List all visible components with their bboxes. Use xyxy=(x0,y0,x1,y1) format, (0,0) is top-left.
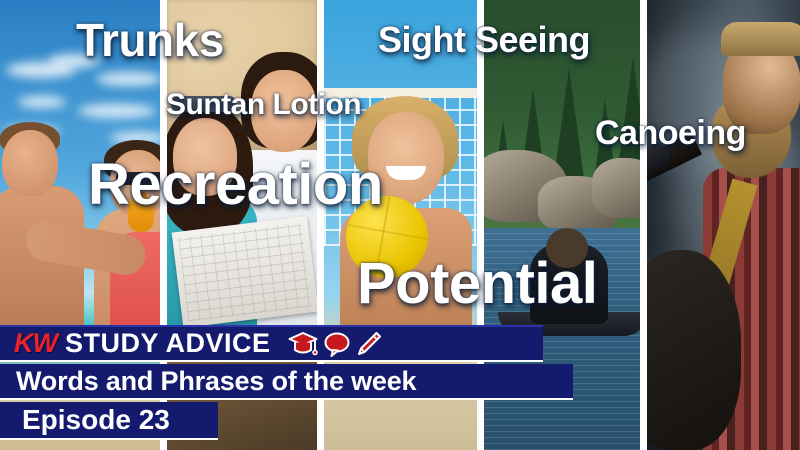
paper-map xyxy=(172,216,319,328)
keyword-recreation: Recreation xyxy=(88,156,383,214)
speech-bubble-icon xyxy=(323,331,351,357)
episode-banner-row: Episode 23 xyxy=(0,402,218,440)
brand-mark-kw: KW xyxy=(14,328,57,359)
cloud-shape xyxy=(78,104,156,118)
video-thumbnail: Trunks Suntan Lotion Sight Seeing Canoei… xyxy=(0,0,800,450)
keyword-canoeing: Canoeing xyxy=(595,116,746,150)
cloud-shape xyxy=(96,72,162,86)
pencil-icon xyxy=(356,331,382,357)
brand-title: STUDY ADVICE xyxy=(65,328,271,359)
subtitle-banner-row: Words and Phrases of the week xyxy=(0,364,573,400)
keyword-trunks: Trunks xyxy=(76,17,224,63)
banner-icon-group xyxy=(288,331,382,357)
beach-man-head xyxy=(2,130,58,196)
cloud-shape xyxy=(18,96,66,108)
brand-banner-row: KW STUDY ADVICE xyxy=(0,325,543,362)
photo-panel-concert xyxy=(647,0,800,450)
keyword-suntan-lotion: Suntan Lotion xyxy=(166,90,361,120)
guitarist-beanie xyxy=(721,22,800,56)
graduation-cap-icon xyxy=(288,331,318,357)
keyword-sight-seeing: Sight Seeing xyxy=(378,22,590,58)
guitar-body xyxy=(647,250,741,450)
banner-subtitle: Words and Phrases of the week xyxy=(16,366,416,397)
keyword-potential: Potential xyxy=(357,255,597,313)
shore-rock xyxy=(592,158,647,218)
banner-episode: Episode 23 xyxy=(22,404,170,436)
